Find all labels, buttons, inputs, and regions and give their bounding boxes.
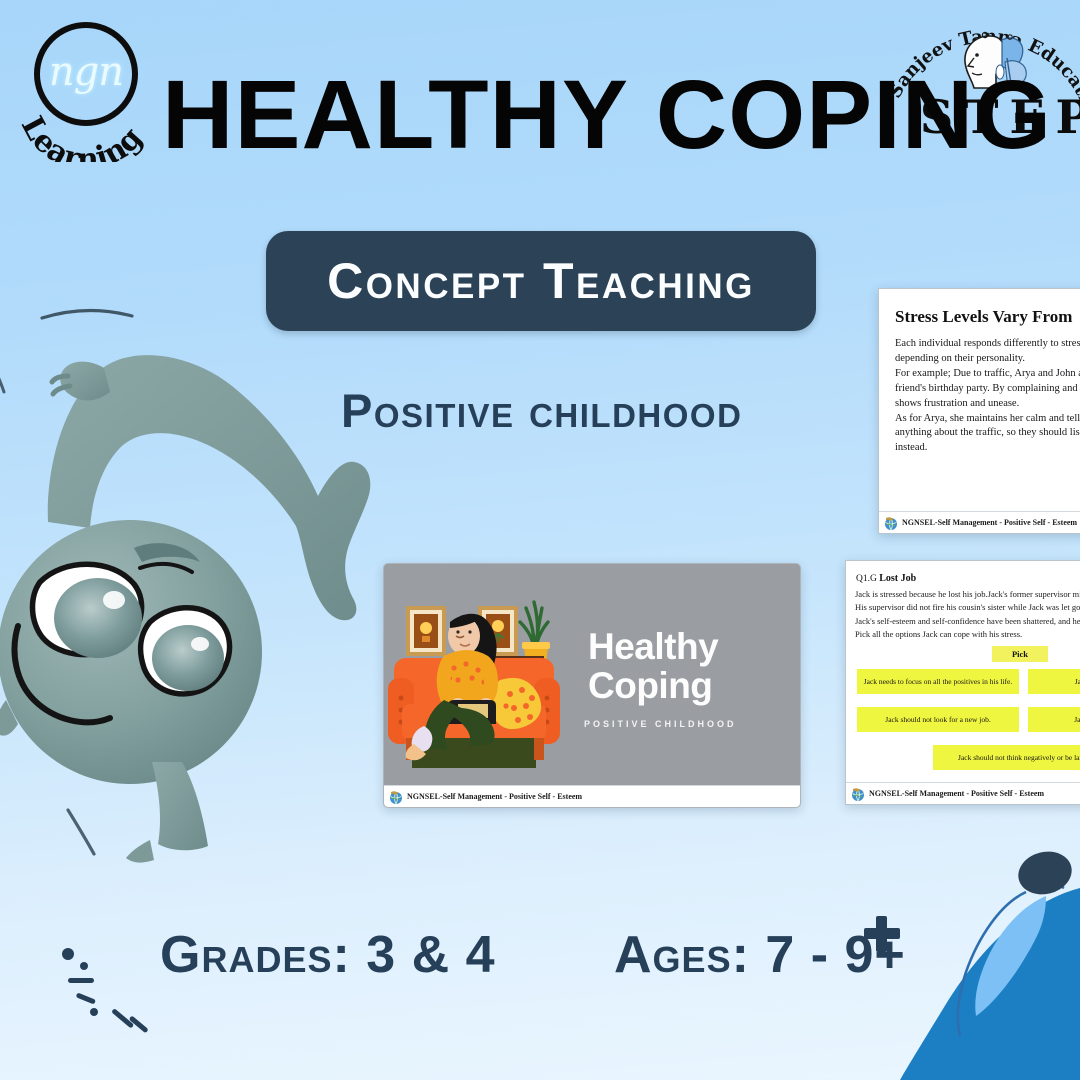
- stress-line: depending on their personality.: [895, 352, 1080, 367]
- cover-title-line2: Coping: [588, 667, 778, 706]
- answer-option[interactable]: Jack should work on hi: [1028, 707, 1080, 732]
- blue-blob-decoration: [850, 830, 1080, 1080]
- slide-footer-text: NGNSEL-Self Management - Positive Self -…: [407, 792, 582, 801]
- sparkle-decoration: [42, 900, 182, 1040]
- slide-preview-question-lost-job[interactable]: Q1.G Lost Job Jack is stressed because h…: [845, 560, 1080, 805]
- globe-icon: [883, 515, 899, 531]
- mascot-handstand-illustration: [0, 300, 412, 860]
- stress-line: shows frustration and unease.: [895, 397, 1080, 412]
- question-body: Jack is stressed because he lost his job…: [855, 588, 1080, 642]
- svg-text:Learning: Learning: [14, 111, 150, 162]
- stress-line: friend's birthday party. By complaining …: [895, 382, 1080, 397]
- cover-subtitle: POSITIVE CHILDHOOD: [584, 719, 769, 729]
- question-line: Jack's self-esteem and self-confidence h…: [855, 615, 1080, 628]
- answer-option[interactable]: Jack needs to focus on all the positives…: [857, 669, 1019, 694]
- stress-line: Each individual responds differently to …: [895, 337, 1080, 352]
- answer-option[interactable]: Jack should not look for a new job.: [857, 707, 1019, 732]
- slide-footer: NGNSEL-Self Management - Positive Self -…: [846, 782, 1080, 804]
- stress-line: instead.: [895, 441, 1080, 456]
- question-line: Jack is stressed because he lost his job…: [855, 588, 1080, 601]
- cover-title-line1: Healthy: [588, 628, 778, 667]
- slide-footer: NGNSEL-Self Management - Positive Self -…: [384, 785, 800, 807]
- woman-reading-on-couch-illustration: [388, 586, 603, 786]
- slide-preview-stress-levels[interactable]: Stress Levels Vary From Each individual …: [878, 288, 1080, 534]
- question-code: Q1.G: [856, 574, 877, 584]
- slide-footer-text: NGNSEL-Self Management - Positive Self -…: [869, 789, 1044, 798]
- pick-label-chip: Pick: [992, 646, 1048, 662]
- mascot-character: [0, 300, 412, 860]
- ngn-logo-arc-text: Learning: [10, 12, 162, 162]
- slide-footer-text: NGNSEL-Self Management - Positive Self -…: [902, 518, 1077, 527]
- question-line: Pick all the options Jack can cope with …: [855, 628, 1080, 641]
- ngn-learning-logo: ngn Learning: [14, 12, 164, 162]
- slide-stress-title: Stress Levels Vary From: [895, 307, 1072, 327]
- globe-icon: [850, 786, 866, 802]
- grades-label: Grades: 3 & 4: [160, 925, 496, 985]
- cover-title: Healthy Coping: [588, 628, 778, 706]
- stress-line: anything about the traffic, so they shou…: [895, 426, 1080, 441]
- slide-footer: NGNSEL-Self Management - Positive Self -…: [879, 511, 1080, 533]
- question-heading: Q1.G Lost Job: [856, 573, 916, 584]
- answer-option[interactable]: Jack should learn from: [1028, 669, 1080, 694]
- page-title: HEALTHY COPING: [162, 66, 947, 163]
- slide-stress-body: Each individual responds differently to …: [895, 337, 1080, 456]
- answer-option[interactable]: Jack should not think negatively or be l…: [933, 745, 1080, 770]
- question-line: His supervisor did not fire his cousin's…: [855, 601, 1080, 614]
- globe-icon: [388, 789, 404, 805]
- stress-line: For example; Due to traffic, Arya and Jo…: [895, 367, 1080, 382]
- stress-line: As for Arya, she maintains her calm and …: [895, 412, 1080, 427]
- question-title: Lost Job: [879, 573, 916, 584]
- slide-preview-healthy-coping-cover[interactable]: Healthy Coping POSITIVE CHILDHOOD NGNSEL…: [383, 563, 801, 808]
